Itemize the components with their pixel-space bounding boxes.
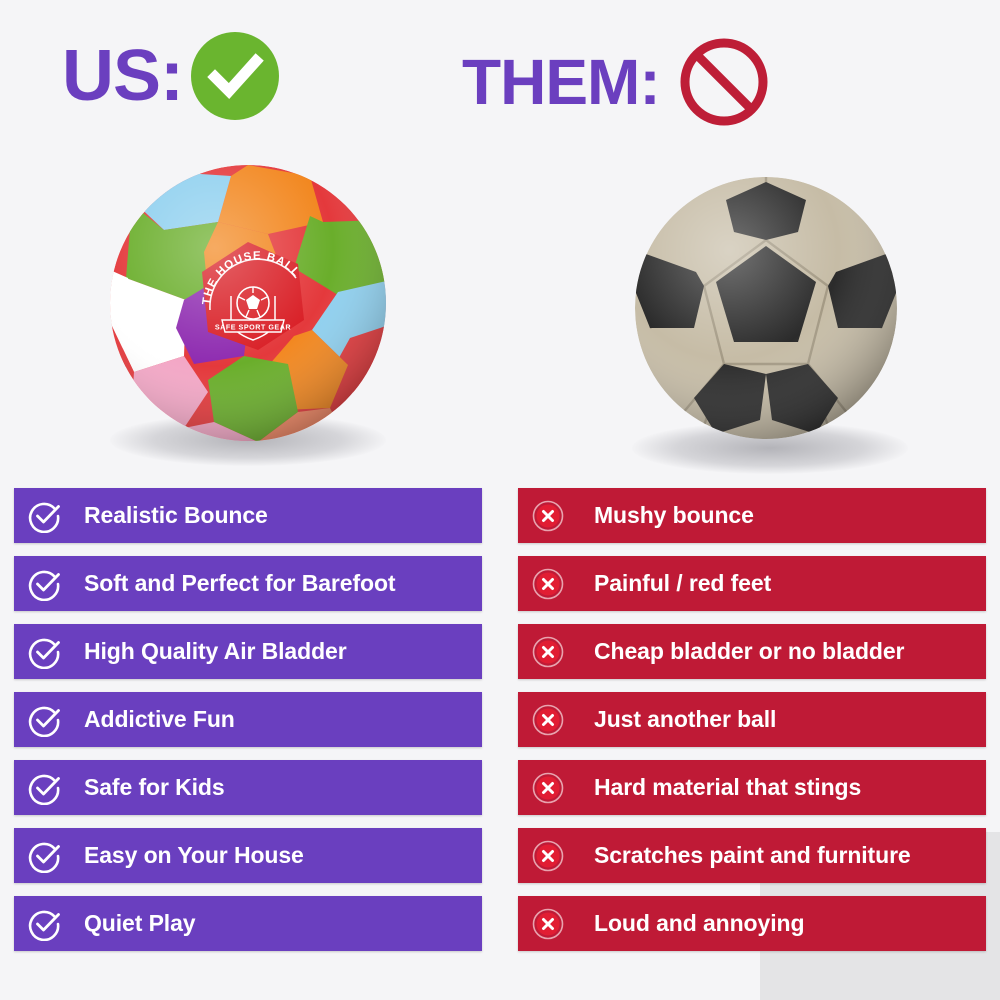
check-circle-outline-icon: [28, 635, 62, 669]
them-list-item[interactable]: Hard material that stings: [518, 760, 986, 815]
us-list-item-label: Safe for Kids: [84, 774, 225, 801]
us-list-item-label: Realistic Bounce: [84, 502, 268, 529]
x-circle-icon: [532, 500, 564, 532]
us-list-item[interactable]: Easy on Your House: [14, 828, 482, 883]
header-us: US:: [62, 32, 279, 120]
us-list-item-label: High Quality Air Bladder: [84, 638, 347, 665]
them-list-item-label: Scratches paint and furniture: [594, 842, 911, 869]
prohibition-no-entry-icon: [678, 36, 770, 128]
them-list-item[interactable]: Cheap bladder or no bladder: [518, 624, 986, 679]
x-circle-icon: [532, 840, 564, 872]
x-circle-icon: [532, 636, 564, 668]
us-list-item[interactable]: Safe for Kids: [14, 760, 482, 815]
check-circle-outline-icon: [28, 567, 62, 601]
check-circle-filled-icon: [191, 32, 279, 120]
header-us-label: US:: [62, 40, 183, 112]
us-list-item[interactable]: Addictive Fun: [14, 692, 482, 747]
us-list-item[interactable]: High Quality Air Bladder: [14, 624, 482, 679]
them-list-item-label: Painful / red feet: [594, 570, 771, 597]
check-circle-outline-icon: [28, 499, 62, 533]
us-list-item-label: Addictive Fun: [84, 706, 235, 733]
comparison-lists: Realistic Bounce Soft and Perfect for Ba…: [0, 488, 1000, 974]
us-list-item[interactable]: Quiet Play: [14, 896, 482, 951]
comparison-infographic: US: THEM:: [0, 0, 1000, 1000]
x-circle-icon: [532, 704, 564, 736]
them-list-item[interactable]: Painful / red feet: [518, 556, 986, 611]
header-them: THEM:: [462, 36, 770, 128]
them-list-item[interactable]: Just another ball: [518, 692, 986, 747]
them-list-item[interactable]: Scratches paint and furniture: [518, 828, 986, 883]
check-circle-outline-icon: [28, 907, 62, 941]
us-feature-list: Realistic Bounce Soft and Perfect for Ba…: [14, 488, 482, 951]
them-list-item-label: Mushy bounce: [594, 502, 754, 529]
header-them-label: THEM:: [462, 50, 660, 114]
multicolor-house-ball: THE HOUSE BALL SAFE SPORT GEAR: [98, 160, 398, 470]
them-list-item-label: Hard material that stings: [594, 774, 861, 801]
product-images: THE HOUSE BALL SAFE SPORT GEAR: [0, 150, 1000, 480]
them-list-item[interactable]: Mushy bounce: [518, 488, 986, 543]
them-list-item-label: Loud and annoying: [594, 910, 804, 937]
us-list-item-label: Soft and Perfect for Barefoot: [84, 570, 395, 597]
check-circle-outline-icon: [28, 703, 62, 737]
us-list-item[interactable]: Realistic Bounce: [14, 488, 482, 543]
x-circle-icon: [532, 908, 564, 940]
them-list-item-label: Cheap bladder or no bladder: [594, 638, 904, 665]
check-circle-outline-icon: [28, 771, 62, 805]
us-list-item[interactable]: Soft and Perfect for Barefoot: [14, 556, 482, 611]
us-list-item-label: Easy on Your House: [84, 842, 304, 869]
check-circle-outline-icon: [28, 839, 62, 873]
them-list-item-label: Just another ball: [594, 706, 776, 733]
header-row: US: THEM:: [0, 0, 1000, 150]
standard-soccer-ball: [620, 168, 920, 478]
them-list-item[interactable]: Loud and annoying: [518, 896, 986, 951]
x-circle-icon: [532, 568, 564, 600]
them-drawback-list: Mushy bounce Painful / red feet: [518, 488, 986, 951]
x-circle-icon: [532, 772, 564, 804]
us-list-item-label: Quiet Play: [84, 910, 196, 937]
